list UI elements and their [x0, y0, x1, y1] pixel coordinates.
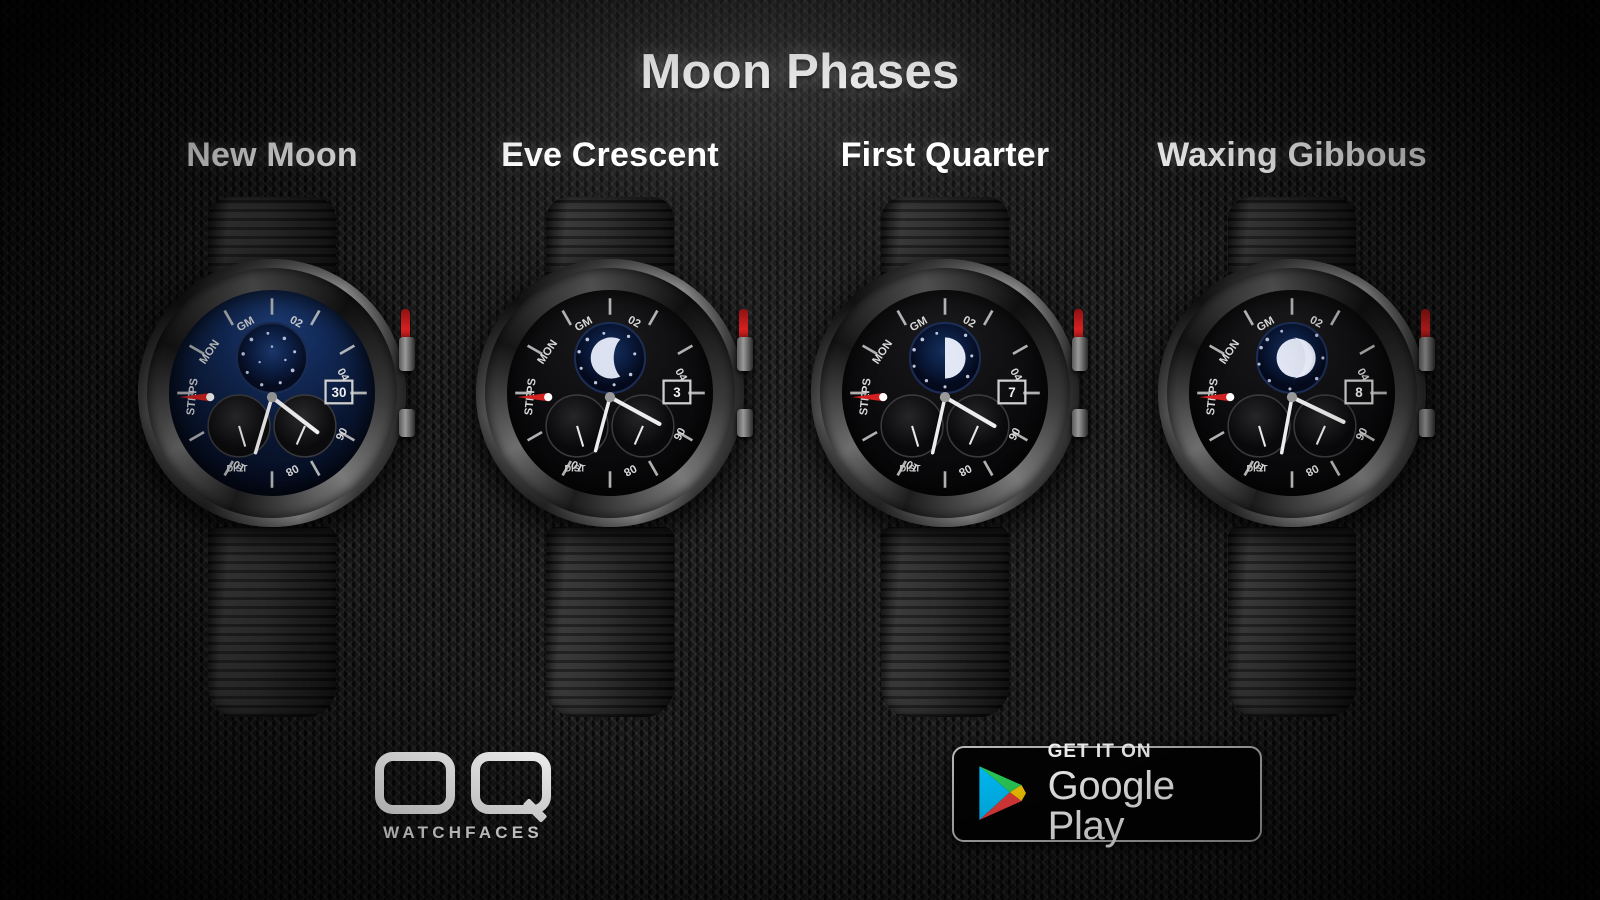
svg-text:08: 08	[284, 462, 301, 479]
crown-lower[interactable]	[737, 409, 753, 437]
watch-case: 02 04 06 08 10 GM MON STEPS	[811, 259, 1079, 527]
date-window-value: 8	[1355, 385, 1363, 400]
crown-lower[interactable]	[1419, 409, 1435, 437]
watch-bezel: 02 04 06 08 10 GM MON STEPS	[1167, 268, 1417, 518]
svg-text:DIST: DIST	[899, 463, 920, 473]
logo-letter-q	[471, 752, 551, 814]
watch-bezel: 02 04 06 08 10 GM MON STEPS	[147, 268, 397, 518]
phase-label: Eve Crescent	[440, 136, 780, 175]
google-play-badge[interactable]: GET IT ON Google Play	[952, 746, 1262, 842]
logo-letter-o	[375, 752, 455, 814]
watch-case: 02 04 06 08 10 GM MON STEPS	[1158, 259, 1426, 527]
phase-column-first-quarter: First Quarter	[775, 136, 1115, 717]
phase-label: Waxing Gibbous	[1122, 136, 1462, 175]
phase-column-waxing-gibbous: Waxing Gibbous	[1122, 136, 1462, 717]
svg-text:08: 08	[622, 462, 639, 479]
watch-first-quarter[interactable]: 02 04 06 08 10 GM MON STEPS	[775, 197, 1115, 717]
svg-text:08: 08	[1304, 462, 1321, 479]
watch-strap-bottom	[881, 527, 1009, 717]
crown-upper[interactable]	[1419, 337, 1435, 371]
watch-bezel: 02 04 06 08 10 GM MON STEPS	[485, 268, 735, 518]
page-title: Moon Phases	[0, 44, 1600, 100]
watch-bezel: 02 04 06 08 10 GM MON STEPS	[820, 268, 1070, 518]
promo-banner: Moon Phases New Moon	[0, 0, 1600, 900]
google-play-triangle-icon	[974, 760, 1030, 828]
date-window-value: 7	[1008, 385, 1015, 400]
crown-lower[interactable]	[399, 409, 415, 437]
watch-strap-bottom	[1228, 527, 1356, 717]
svg-text:DIST: DIST	[1246, 463, 1267, 473]
brand-wordmark: WATCHFACES	[368, 823, 558, 843]
watch-dial: 02 04 06 08 10 GM MON STEPS	[1189, 290, 1395, 496]
phase-column-new-moon: New Moon	[102, 136, 442, 717]
badge-small-text: GET IT ON	[1048, 742, 1240, 761]
svg-text:DIST: DIST	[564, 463, 585, 473]
crown-lower[interactable]	[1072, 409, 1088, 437]
phase-column-eve-crescent: Eve Crescent	[440, 136, 780, 717]
svg-text:08: 08	[957, 462, 974, 479]
crown-upper[interactable]	[399, 337, 415, 371]
phase-label: New Moon	[102, 136, 442, 175]
watch-strap-bottom	[208, 527, 336, 717]
brand-logo: WATCHFACES	[368, 752, 558, 848]
watch-new-moon[interactable]: 02 04 06 08 10 GM MON STEPS	[102, 197, 442, 717]
watch-dial: 02 04 06 08 10 GM MON STEPS	[507, 290, 713, 496]
svg-text:DIST: DIST	[226, 463, 247, 473]
crown-upper[interactable]	[737, 337, 753, 371]
date-window-value: 3	[673, 385, 680, 400]
watch-dial: 02 04 06 08 10 GM MON STEPS	[169, 290, 375, 496]
watch-strap-bottom	[546, 527, 674, 717]
watch-case: 02 04 06 08 10 GM MON STEPS	[476, 259, 744, 527]
badge-large-text: Google Play	[1048, 766, 1240, 846]
watch-waxing-gibbous[interactable]: 02 04 06 08 10 GM MON STEPS	[1122, 197, 1462, 717]
date-window-value: 30	[332, 385, 347, 400]
crown-upper[interactable]	[1072, 337, 1088, 371]
watch-eve-crescent[interactable]: 02 04 06 08 10 GM MON STEPS	[440, 197, 780, 717]
watch-dial: 02 04 06 08 10 GM MON STEPS	[842, 290, 1048, 496]
watch-case: 02 04 06 08 10 GM MON STEPS	[138, 259, 406, 527]
phase-label: First Quarter	[775, 136, 1115, 175]
